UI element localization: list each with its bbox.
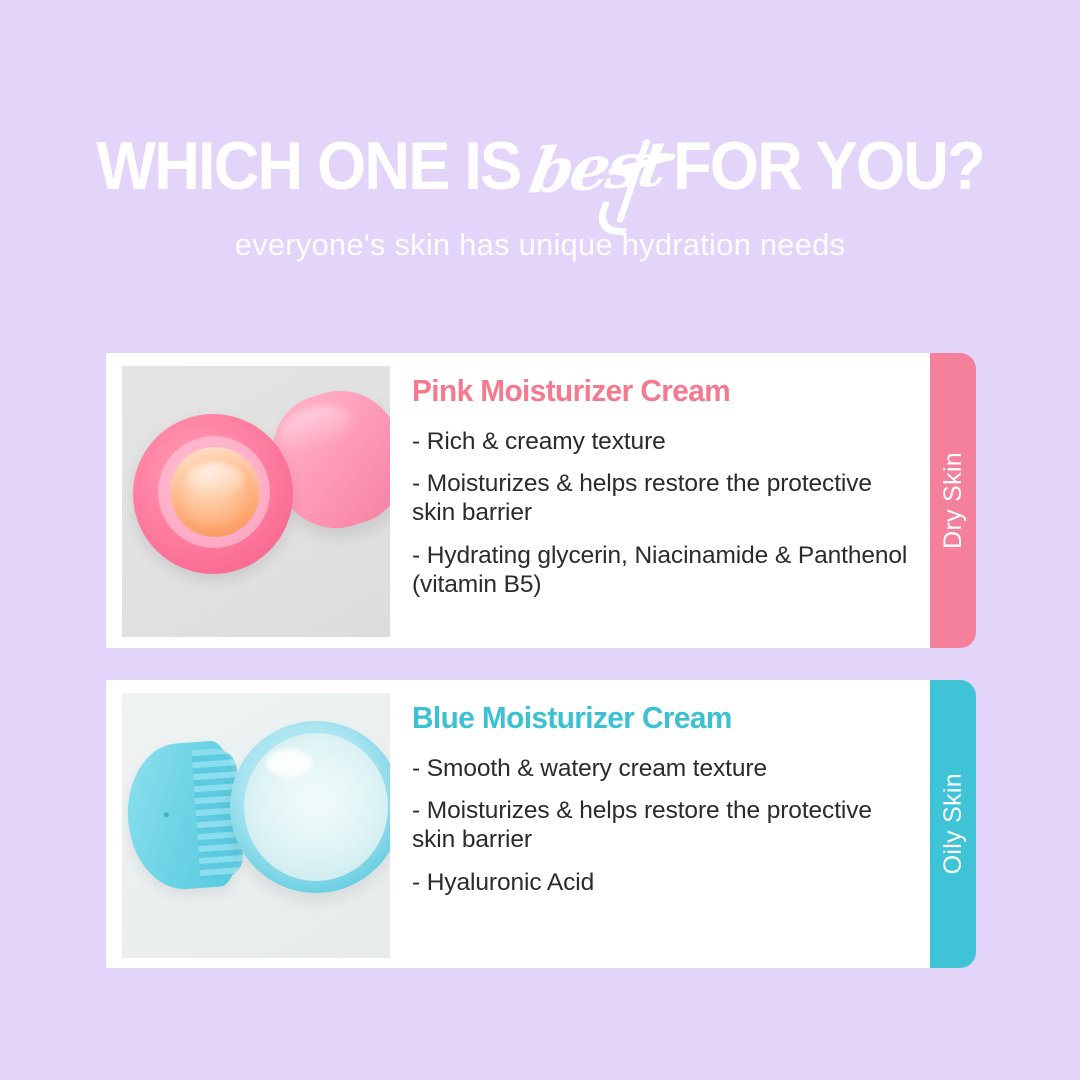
skin-type-tab-oily[interactable]: Oily Skin	[930, 680, 976, 968]
skin-type-tab-label: Dry Skin	[939, 452, 968, 549]
blue-jar-base	[230, 721, 390, 893]
pink-jar-rim	[158, 436, 270, 548]
card-body-blue: Blue Moisturizer Cream - Smooth & watery…	[390, 680, 930, 912]
page-title: WHICH ONE ISbestFOR YOU?	[96, 132, 983, 200]
infographic-canvas: WHICH ONE ISbestFOR YOU? everyone's skin…	[0, 0, 1080, 1080]
blue-jar-illustration	[122, 693, 390, 958]
headline-pre: WHICH ONE IS	[96, 132, 520, 200]
skin-type-tab-dry[interactable]: Dry Skin	[930, 353, 976, 648]
product-bullet: - Moisturizes & helps restore the protec…	[412, 797, 908, 855]
product-title-pink: Pink Moisturizer Cream	[412, 375, 888, 408]
product-image-blue	[122, 693, 390, 958]
product-image-pink	[122, 366, 390, 637]
product-card-blue[interactable]: Blue Moisturizer Cream - Smooth & watery…	[106, 680, 930, 968]
product-bullet: - Moisturizes & helps restore the protec…	[412, 470, 908, 528]
product-bullet: - Hyaluronic Acid	[412, 869, 908, 898]
product-bullet: - Smooth & watery cream texture	[412, 755, 908, 784]
pink-jar-illustration	[122, 366, 390, 637]
product-title-blue: Blue Moisturizer Cream	[412, 702, 888, 735]
product-bullet: - Hydrating glycerin, Niacinamide & Pant…	[412, 542, 908, 600]
product-bullet: - Rich & creamy texture	[412, 428, 908, 457]
card-body-pink: Pink Moisturizer Cream - Rich & creamy t…	[390, 353, 930, 614]
page-subtitle: everyone's skin has unique hydration nee…	[0, 227, 1080, 263]
skin-type-tab-label: Oily Skin	[939, 773, 968, 874]
product-card-pink[interactable]: Pink Moisturizer Cream - Rich & creamy t…	[106, 353, 930, 648]
blue-lid-dot	[164, 812, 169, 817]
headline-script-word: best	[525, 133, 670, 202]
headline-post: FOR YOU?	[673, 132, 984, 200]
pink-jar-base	[133, 414, 293, 574]
blue-jar-lid	[123, 739, 245, 892]
pink-cream-surface	[170, 447, 260, 537]
header: WHICH ONE ISbestFOR YOU? everyone's skin…	[0, 132, 1080, 263]
blue-gel-surface	[244, 733, 388, 881]
